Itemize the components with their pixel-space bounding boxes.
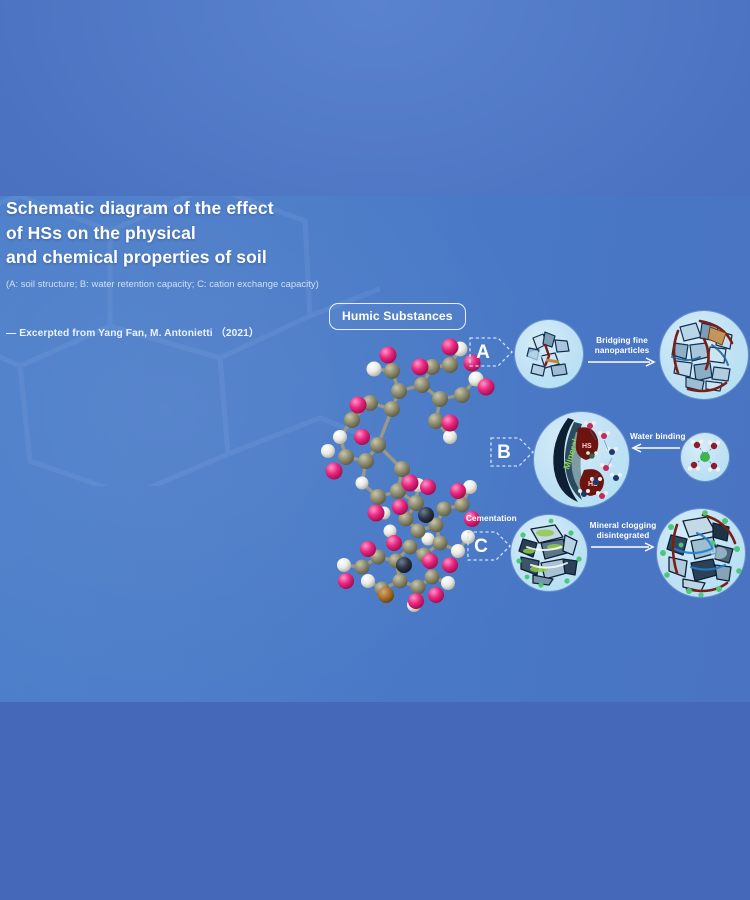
marker-b-letter: B bbox=[489, 432, 519, 472]
figure-title-line-1: Schematic diagram of the effect bbox=[6, 196, 336, 221]
flow-c: Mineral clogging disintegrated bbox=[589, 521, 657, 553]
arrow-right-icon bbox=[586, 356, 658, 368]
figure-canvas: Schematic diagram of the effect of HSs o… bbox=[0, 0, 750, 900]
cementation-label: Cementation bbox=[466, 514, 517, 523]
flow-a-caption-line-2: nanoparticles bbox=[586, 346, 658, 356]
figure-subtitle: (A: soil structure; B: water retention c… bbox=[6, 277, 336, 290]
nitrogen-atom bbox=[396, 557, 412, 573]
marker-a: A bbox=[468, 332, 514, 372]
figure-credit: — Excerpted from Yang Fan, M. Antonietti… bbox=[6, 324, 336, 339]
circle-soil-particles-aggregated bbox=[660, 311, 748, 399]
flow-b-caption-line-1: Water binding bbox=[630, 432, 682, 442]
marker-a-letter: A bbox=[468, 332, 498, 372]
nitrogen-atom bbox=[418, 507, 434, 523]
marker-c-letter: C bbox=[466, 526, 496, 566]
circle-disintegrated-mineral-aggregate bbox=[657, 509, 745, 597]
circle-soil-particles-dispersed bbox=[515, 320, 583, 388]
flow-c-caption-line-1: Mineral clogging bbox=[589, 521, 657, 531]
circle-water-molecules-cation bbox=[681, 433, 729, 481]
figure-title-line-3: and chemical properties of soil bbox=[6, 245, 336, 270]
flow-a-caption-line-1: Bridging fine bbox=[586, 336, 658, 346]
figure-text-block: Schematic diagram of the effect of HSs o… bbox=[6, 196, 336, 339]
figure-title: Schematic diagram of the effect of HSs o… bbox=[6, 196, 336, 270]
sulfur-atom bbox=[378, 587, 394, 603]
svg-text:HS: HS bbox=[582, 443, 592, 450]
flow-a: Bridging fine nanoparticles bbox=[586, 336, 658, 368]
marker-c: C bbox=[466, 526, 512, 566]
circle-cemented-mineral-aggregate bbox=[511, 515, 587, 591]
flow-c-caption-line-2: disintegrated bbox=[589, 531, 657, 541]
marker-b: B bbox=[489, 432, 535, 472]
arrow-right-icon bbox=[589, 541, 657, 553]
figure-title-line-2: of HSs on the physical bbox=[6, 221, 336, 246]
circle-humic-substance-mineral-with-water: Mineral HS HS bbox=[534, 412, 629, 507]
arrow-left-icon bbox=[630, 442, 682, 454]
flow-b: Water binding bbox=[630, 432, 682, 454]
